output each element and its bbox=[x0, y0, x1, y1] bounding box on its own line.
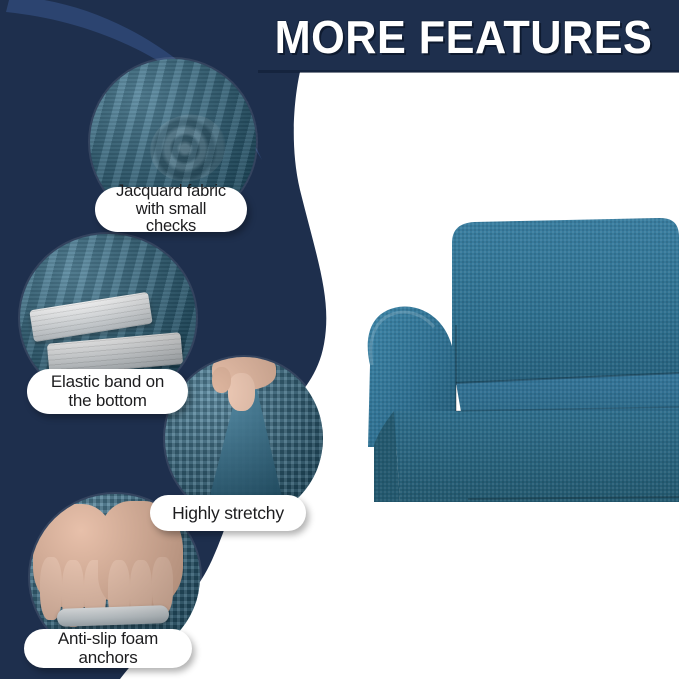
label-line-1: Elastic band on bbox=[51, 373, 164, 391]
feature-label-jacquard-fabric: Jacquard fabric with small checks bbox=[95, 187, 247, 232]
feature-label-foam-anchors: Anti-slip foam anchors bbox=[24, 629, 192, 668]
label-line-1: Anti-slip foam anchors bbox=[38, 630, 178, 667]
product-image-loveseat-slipcover bbox=[360, 215, 679, 505]
page-title: MORE FEATURES bbox=[270, 8, 656, 66]
label-line-2: with small checks bbox=[109, 201, 233, 237]
header-underline bbox=[258, 70, 679, 73]
feature-label-elastic-band: Elastic band on the bottom bbox=[27, 369, 188, 414]
label-line-1: Jacquard fabric bbox=[109, 183, 233, 201]
infographic-canvas: Jacquard fabric with small checks Elasti… bbox=[0, 0, 679, 679]
feature-label-highly-stretchy: Highly stretchy bbox=[150, 495, 306, 531]
label-line-1: Highly stretchy bbox=[172, 504, 284, 523]
label-line-2: the bottom bbox=[51, 392, 164, 410]
